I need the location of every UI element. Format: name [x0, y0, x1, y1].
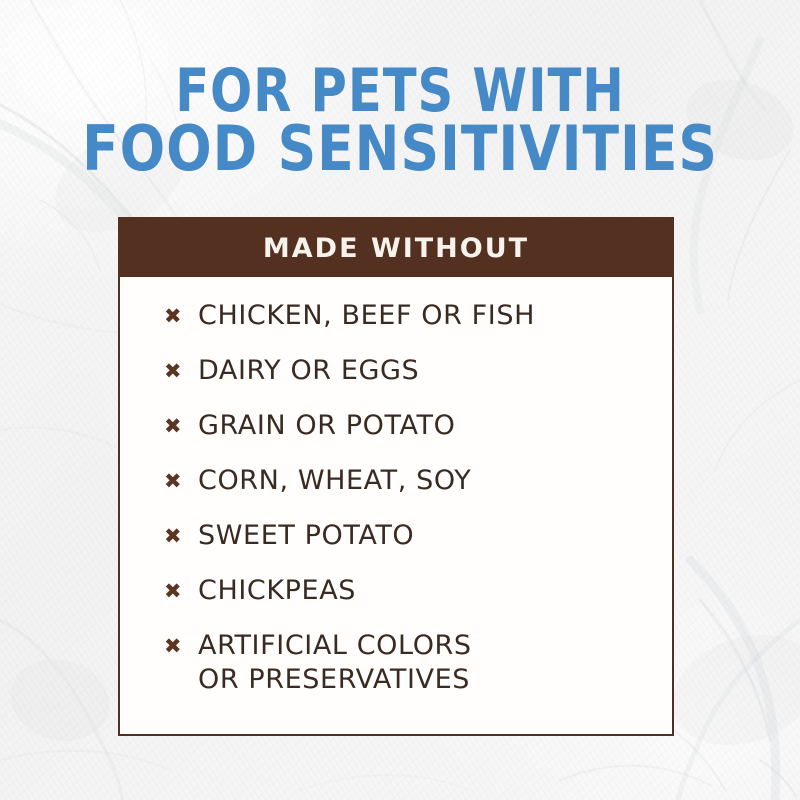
x-mark-icon: ✖: [164, 299, 184, 333]
list-item: ✖ DAIRY OR EGGS: [164, 354, 654, 388]
list-item: ✖ ARTIFICIAL COLORS OR PRESERVATIVES: [164, 629, 654, 697]
card-body: ✖ CHICKEN, BEEF OR FISH ✖ DAIRY OR EGGS …: [120, 277, 672, 734]
x-mark-icon: ✖: [164, 354, 184, 388]
list-item-label: DAIRY OR EGGS: [198, 354, 419, 388]
x-mark-icon: ✖: [164, 464, 184, 498]
list-item-label: ARTIFICIAL COLORS OR PRESERVATIVES: [198, 629, 472, 697]
list-item-label-line-1: ARTIFICIAL COLORS: [198, 630, 472, 661]
list-item-label: GRAIN OR POTATO: [198, 409, 455, 443]
list-item: ✖ CORN, WHEAT, SOY: [164, 464, 654, 498]
list-item-label-line-2: OR PRESERVATIVES: [198, 663, 472, 697]
page-title: FOR PETS WITH FOOD SENSITIVITIES: [0, 62, 800, 178]
list-item-label: CHICKEN, BEEF OR FISH: [198, 299, 535, 333]
list-item: ✖ SWEET POTATO: [164, 519, 654, 553]
x-mark-icon: ✖: [164, 519, 184, 553]
x-mark-icon: ✖: [164, 409, 184, 443]
list-item-label: CHICKPEAS: [198, 574, 356, 608]
list-item-label: CORN, WHEAT, SOY: [198, 464, 471, 498]
list-item: ✖ CHICKEN, BEEF OR FISH: [164, 299, 654, 333]
exclusion-list: ✖ CHICKEN, BEEF OR FISH ✖ DAIRY OR EGGS …: [120, 299, 672, 697]
x-mark-icon: ✖: [164, 574, 184, 608]
headline-line-2: FOOD SENSITIVITIES: [16, 120, 784, 178]
made-without-card: MADE WITHOUT ✖ CHICKEN, BEEF OR FISH ✖ D…: [118, 217, 674, 736]
card-header-title: MADE WITHOUT: [263, 233, 529, 264]
list-item: ✖ GRAIN OR POTATO: [164, 409, 654, 443]
card-header: MADE WITHOUT: [120, 219, 672, 277]
x-mark-icon: ✖: [164, 629, 184, 663]
poster-canvas: FOR PETS WITH FOOD SENSITIVITIES MADE WI…: [0, 0, 800, 800]
list-item-label: SWEET POTATO: [198, 519, 414, 553]
list-item: ✖ CHICKPEAS: [164, 574, 654, 608]
